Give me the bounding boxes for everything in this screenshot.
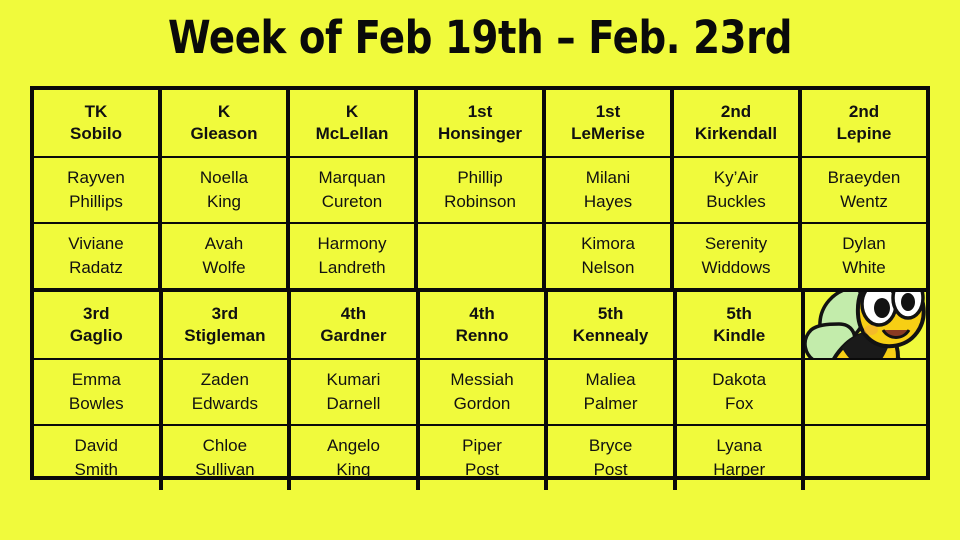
lower-header-row: 3rd Gaglio 3rd Stigleman 4th Gardner 4th…	[34, 292, 926, 360]
student-first-name: Emma	[72, 368, 121, 392]
student-first-name: Messiah	[450, 368, 513, 392]
bee-icon	[805, 292, 926, 358]
student-last-name: Edwards	[192, 392, 258, 416]
student-first-name: David	[75, 434, 118, 458]
student-last-name: Radatz	[69, 256, 123, 280]
student-cell: Maliea Palmer	[548, 360, 677, 424]
grade-label: 5th	[726, 303, 752, 325]
class-roster-table: TK Sobilo K Gleason K McLellan 1st Honsi…	[30, 86, 930, 480]
header-cell-4th-gardner: 4th Gardner	[291, 292, 420, 358]
teacher-label: Gardner	[320, 325, 386, 347]
student-cell: Emma Bowles	[34, 360, 163, 424]
grade-label: 4th	[469, 303, 495, 325]
student-cell: Lyana Harper	[677, 426, 806, 490]
student-cell: Kimora Nelson	[546, 224, 674, 288]
student-cell: Avah Wolfe	[162, 224, 290, 288]
teacher-label: Lepine	[837, 123, 892, 145]
grade-label: 1st	[596, 101, 621, 123]
grade-label: K	[218, 101, 230, 123]
teacher-label: Gaglio	[70, 325, 123, 347]
student-last-name: King	[207, 190, 241, 214]
student-first-name: Chloe	[203, 434, 247, 458]
grade-label: 4th	[341, 303, 367, 325]
header-cell-k-mclellan: K McLellan	[290, 90, 418, 156]
grade-label: K	[346, 101, 358, 123]
student-cell: Rayven Phillips	[34, 158, 162, 222]
student-first-name: Kimora	[581, 232, 635, 256]
upper-grades-section: TK Sobilo K Gleason K McLellan 1st Honsi…	[34, 90, 926, 288]
student-last-name: Palmer	[584, 392, 638, 416]
page-title: Week of Feb 19th – Feb. 23rd	[67, 8, 893, 68]
weekly-schedule-poster: Week of Feb 19th – Feb. 23rd TK Sobilo K…	[0, 0, 960, 540]
grade-label: 2nd	[721, 101, 751, 123]
student-last-name: Post	[594, 458, 628, 482]
student-cell: Piper Post	[420, 426, 549, 490]
student-first-name: Viviane	[68, 232, 123, 256]
student-first-name: Angelo	[327, 434, 380, 458]
teacher-label: Stigleman	[184, 325, 265, 347]
student-first-name: Kumari	[327, 368, 381, 392]
student-first-name: Bryce	[589, 434, 632, 458]
student-last-name: White	[842, 256, 885, 280]
student-cell: Dylan White	[802, 224, 926, 288]
header-cell-1st-lemerise: 1st LeMerise	[546, 90, 674, 156]
student-first-name: Zaden	[201, 368, 249, 392]
student-cell: Serenity Widdows	[674, 224, 802, 288]
teacher-label: Kindle	[713, 325, 765, 347]
header-cell-4th-renno: 4th Renno	[420, 292, 549, 358]
teacher-label: Kirkendall	[695, 123, 777, 145]
student-last-name: Bowles	[69, 392, 124, 416]
student-first-name: Piper	[462, 434, 502, 458]
student-cell: Bryce Post	[548, 426, 677, 490]
student-cell: Phillip Robinson	[418, 158, 546, 222]
student-first-name: Braeyden	[828, 166, 901, 190]
header-cell-2nd-kirkendall: 2nd Kirkendall	[674, 90, 802, 156]
grade-label: 3rd	[83, 303, 109, 325]
student-last-name: Fox	[725, 392, 753, 416]
student-last-name: Smith	[75, 458, 118, 482]
student-cell: Ky’Air Buckles	[674, 158, 802, 222]
student-first-name: Avah	[205, 232, 243, 256]
student-last-name: Buckles	[706, 190, 766, 214]
student-first-name: Milani	[586, 166, 630, 190]
header-cell-1st-honsinger: 1st Honsinger	[418, 90, 546, 156]
student-cell: David Smith	[34, 426, 163, 490]
student-last-name: Widdows	[702, 256, 771, 280]
header-cell-k-gleason: K Gleason	[162, 90, 290, 156]
student-first-name: Maliea	[586, 368, 636, 392]
student-first-name: Harmony	[318, 232, 387, 256]
student-cell: Zaden Edwards	[163, 360, 292, 424]
student-last-name: Robinson	[444, 190, 516, 214]
student-cell: Viviane Radatz	[34, 224, 162, 288]
teacher-label: Honsinger	[438, 123, 522, 145]
student-cell: Noella King	[162, 158, 290, 222]
table-row: Rayven Phillips Noella King Marquan Cure…	[34, 158, 926, 224]
student-cell: Kumari Darnell	[291, 360, 420, 424]
student-cell: Dakota Fox	[677, 360, 806, 424]
student-last-name: Harper	[713, 458, 765, 482]
student-cell: Angelo King	[291, 426, 420, 490]
student-cell-empty	[418, 224, 546, 288]
student-first-name: Serenity	[705, 232, 767, 256]
student-last-name: Landreth	[318, 256, 385, 280]
grade-label: 3rd	[212, 303, 238, 325]
student-last-name: Darnell	[327, 392, 381, 416]
grade-label: 1st	[468, 101, 493, 123]
teacher-label: Kennealy	[573, 325, 649, 347]
grade-label: TK	[85, 101, 108, 123]
student-first-name: Dylan	[842, 232, 885, 256]
header-cell-5th-kennealy: 5th Kennealy	[548, 292, 677, 358]
student-last-name: Wolfe	[202, 256, 245, 280]
student-cell: Harmony Landreth	[290, 224, 418, 288]
student-first-name: Noella	[200, 166, 248, 190]
table-row: David Smith Chloe Sullivan Angelo King P…	[34, 426, 926, 490]
student-first-name: Rayven	[67, 166, 125, 190]
grade-label: 2nd	[849, 101, 879, 123]
bee-decoration-cell-spacer	[805, 360, 926, 424]
student-first-name: Dakota	[712, 368, 766, 392]
student-last-name: Phillips	[69, 190, 123, 214]
student-last-name: Wentz	[840, 190, 888, 214]
bee-decoration-cell	[805, 292, 926, 358]
student-first-name: Ky’Air	[714, 166, 758, 190]
teacher-label: Gleason	[190, 123, 257, 145]
header-cell-2nd-lepine: 2nd Lepine	[802, 90, 926, 156]
header-cell-5th-kindle: 5th Kindle	[677, 292, 806, 358]
teacher-label: Sobilo	[70, 123, 122, 145]
student-cell: Messiah Gordon	[420, 360, 549, 424]
grade-label: 5th	[598, 303, 624, 325]
student-last-name: King	[336, 458, 370, 482]
student-last-name: Hayes	[584, 190, 632, 214]
student-cell: Milani Hayes	[546, 158, 674, 222]
student-last-name: Post	[465, 458, 499, 482]
student-cell: Braeyden Wentz	[802, 158, 926, 222]
student-last-name: Gordon	[454, 392, 511, 416]
upper-header-row: TK Sobilo K Gleason K McLellan 1st Honsi…	[34, 90, 926, 158]
teacher-label: LeMerise	[571, 123, 645, 145]
lower-grades-section: 3rd Gaglio 3rd Stigleman 4th Gardner 4th…	[34, 288, 926, 490]
student-last-name: Sullivan	[195, 458, 255, 482]
student-cell: Chloe Sullivan	[163, 426, 292, 490]
student-last-name: Cureton	[322, 190, 382, 214]
header-cell-tk-sobilo: TK Sobilo	[34, 90, 162, 156]
student-cell: Marquan Cureton	[290, 158, 418, 222]
header-cell-3rd-stigleman: 3rd Stigleman	[163, 292, 292, 358]
student-first-name: Lyana	[716, 434, 762, 458]
student-last-name: Nelson	[582, 256, 635, 280]
teacher-label: McLellan	[316, 123, 389, 145]
student-first-name: Marquan	[318, 166, 385, 190]
bee-decoration-cell-spacer	[805, 426, 926, 490]
student-first-name: Phillip	[457, 166, 502, 190]
table-row: Emma Bowles Zaden Edwards Kumari Darnell…	[34, 360, 926, 426]
teacher-label: Renno	[456, 325, 509, 347]
header-cell-3rd-gaglio: 3rd Gaglio	[34, 292, 163, 358]
table-row: Viviane Radatz Avah Wolfe Harmony Landre…	[34, 224, 926, 288]
